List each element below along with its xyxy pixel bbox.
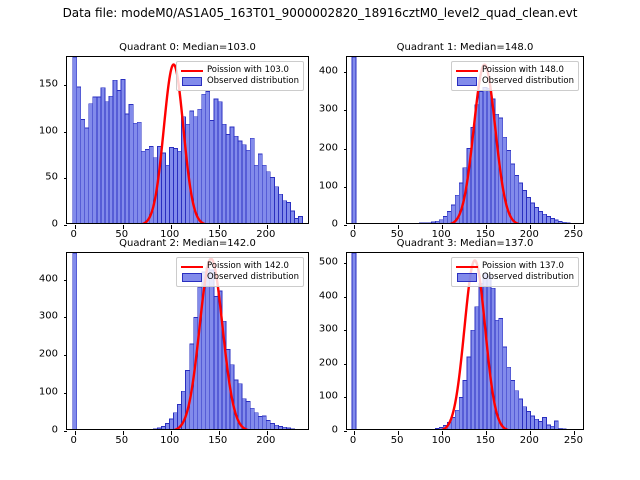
- histogram-bar: [266, 420, 270, 429]
- histogram-bar: [539, 212, 543, 223]
- x-tick-mark: [398, 431, 399, 435]
- histogram-bar: [165, 165, 169, 223]
- subplot-title-quadrant-3: Quadrant 3: Median=137.0: [346, 238, 584, 249]
- x-tick-label: 100: [432, 435, 451, 446]
- histogram-bar: [475, 307, 479, 429]
- y-tick-mark: [344, 187, 348, 188]
- histogram-bar: [105, 102, 109, 223]
- histogram-bar: [242, 399, 246, 429]
- y-tick-label: 500: [290, 257, 338, 268]
- histogram-bar: [109, 96, 113, 223]
- histogram-bar: [214, 99, 218, 223]
- y-tick-label: 100: [10, 125, 58, 136]
- legend-entry-observed: Observed distribution: [456, 272, 574, 283]
- subplot-quadrant-2: Quadrant 2: Median=142.0Poission with 14…: [10, 238, 309, 454]
- y-tick-mark: [64, 178, 68, 179]
- histogram-bar: [499, 318, 503, 429]
- histogram-bar: [202, 94, 206, 223]
- histogram-bar: [352, 57, 356, 223]
- histogram-bar: [523, 191, 527, 223]
- histogram-bar: [447, 212, 451, 223]
- histogram-bar: [527, 198, 531, 223]
- y-tick-label: 400: [10, 273, 58, 284]
- x-tick-mark: [486, 431, 487, 435]
- y-tick-mark: [344, 297, 348, 298]
- x-tick-label: 50: [115, 435, 128, 446]
- histogram-bar: [210, 120, 214, 223]
- legend-quadrant-0[interactable]: Poission with 103.0Observed distribution: [176, 61, 304, 91]
- histogram-bar: [507, 367, 511, 429]
- legend-quadrant-2[interactable]: Poission with 142.0Observed distribution: [176, 257, 304, 287]
- histogram-bar: [435, 221, 439, 223]
- histogram-bar: [455, 410, 459, 429]
- histogram-bar: [439, 220, 443, 223]
- histogram-bar: [558, 222, 562, 223]
- histogram-bar: [282, 427, 286, 429]
- x-tick-mark: [171, 431, 172, 435]
- histogram-bar: [274, 425, 278, 429]
- histogram-bar: [242, 145, 246, 223]
- y-tick-mark: [64, 132, 68, 133]
- histogram-bar: [262, 165, 266, 223]
- histogram-bar: [226, 134, 230, 223]
- legend-entry-observed: Observed distribution: [181, 272, 299, 283]
- histogram-bar: [161, 153, 165, 223]
- plot-area-quadrant-1: Poission with 148.0Observed distribution: [346, 56, 584, 224]
- histogram-bar: [129, 105, 133, 223]
- histogram-bar: [519, 399, 523, 429]
- subplot-title-quadrant-1: Quadrant 1: Median=148.0: [346, 42, 584, 53]
- plot-area-quadrant-0: Poission with 103.0Observed distribution: [66, 56, 309, 224]
- histogram-bar: [278, 194, 282, 223]
- histogram-bar: [178, 151, 182, 223]
- histogram-bar: [254, 413, 258, 429]
- y-tick-label: 0: [10, 425, 58, 436]
- histogram-bar: [174, 413, 178, 429]
- y-tick-label: 200: [290, 357, 338, 368]
- histogram-bar: [278, 426, 282, 429]
- histogram-bar: [443, 217, 447, 223]
- histogram-bar: [270, 423, 274, 429]
- histogram-bar: [218, 102, 222, 223]
- legend-quadrant-3[interactable]: Poission with 137.0Observed distribution: [451, 257, 579, 287]
- histogram-bar: [93, 97, 97, 223]
- x-tick-mark: [442, 225, 443, 229]
- histogram-bar: [467, 357, 471, 429]
- histogram-bar: [535, 419, 539, 429]
- histogram-bar: [511, 164, 515, 223]
- histogram-bar: [527, 412, 531, 429]
- histogram-bar: [519, 183, 523, 223]
- histogram-bar: [145, 149, 149, 223]
- x-tick-mark: [171, 225, 172, 229]
- histogram-bar: [258, 417, 262, 429]
- subplot-quadrant-3: Quadrant 3: Median=137.0Poission with 13…: [290, 238, 584, 454]
- legend-entry-poisson: Poission with 142.0: [181, 261, 299, 272]
- histogram-bar: [165, 423, 169, 429]
- histogram-bar: [262, 416, 266, 429]
- y-tick-mark: [344, 364, 348, 365]
- legend-patch-icon: [181, 273, 203, 282]
- y-tick-label: 100: [290, 391, 338, 402]
- subplot-quadrant-0: Quadrant 0: Median=103.0Poission with 10…: [10, 42, 309, 248]
- x-tick-mark: [354, 225, 355, 229]
- histogram-bar: [459, 397, 463, 429]
- histogram-bar: [169, 148, 173, 223]
- legend-label-observed: Observed distribution: [207, 272, 299, 283]
- histogram-bar: [137, 122, 141, 223]
- x-tick-mark: [123, 225, 124, 229]
- histogram-bar: [174, 148, 178, 223]
- y-tick-label: 0: [10, 219, 58, 230]
- y-tick-mark: [344, 263, 348, 264]
- y-tick-label: 150: [10, 79, 58, 90]
- legend-label-poisson: Poission with 137.0: [482, 261, 564, 272]
- y-tick-mark: [344, 149, 348, 150]
- x-tick-mark: [574, 225, 575, 229]
- histogram-bar: [97, 97, 101, 223]
- y-tick-label: 0: [290, 219, 338, 230]
- figure-canvas: Data file: modeM0/AS1A05_163T01_90000028…: [0, 0, 640, 480]
- plot-area-quadrant-2: Poission with 142.0Observed distribution: [66, 252, 309, 430]
- histogram-bar: [535, 207, 539, 223]
- histogram-bar: [238, 141, 242, 223]
- histogram-bar: [562, 222, 566, 223]
- x-tick-mark: [442, 431, 443, 435]
- x-tick-label: 0: [350, 435, 356, 446]
- x-tick-mark: [398, 225, 399, 229]
- legend-line-icon: [456, 262, 478, 271]
- x-tick-mark: [530, 225, 531, 229]
- histogram-bar: [558, 428, 562, 429]
- histogram-bar: [89, 104, 93, 223]
- x-tick-mark: [574, 431, 575, 435]
- histogram-bar: [282, 201, 286, 223]
- x-tick-label: 100: [160, 435, 179, 446]
- histogram-bar: [531, 203, 535, 223]
- x-tick-label: 200: [520, 435, 539, 446]
- legend-line-icon: [181, 66, 203, 75]
- histogram-bar: [503, 347, 507, 429]
- histogram-bar: [85, 128, 89, 223]
- legend-entry-observed: Observed distribution: [181, 76, 299, 87]
- legend-label-poisson: Poission with 148.0: [482, 65, 564, 76]
- legend-label-poisson: Poission with 103.0: [207, 65, 289, 76]
- histogram-bar: [161, 426, 165, 429]
- histogram-bar: [246, 401, 250, 429]
- histogram-bar: [234, 136, 238, 223]
- y-tick-label: 400: [290, 66, 338, 77]
- histogram-bar: [515, 391, 519, 429]
- histogram-bar: [125, 114, 129, 223]
- histogram-bar: [483, 88, 487, 223]
- histogram-bar: [554, 220, 558, 223]
- histogram-bar: [254, 165, 258, 223]
- x-tick-label: 50: [391, 435, 404, 446]
- y-tick-mark: [344, 110, 348, 111]
- y-tick-label: 300: [290, 324, 338, 335]
- legend-label-observed: Observed distribution: [482, 272, 574, 283]
- histogram-bar: [169, 419, 173, 429]
- histogram-bar: [73, 57, 77, 223]
- legend-patch-icon: [456, 273, 478, 282]
- histogram-bar: [274, 187, 278, 223]
- x-tick-mark: [354, 431, 355, 435]
- legend-entry-poisson: Poission with 137.0: [456, 261, 574, 272]
- y-tick-mark: [64, 431, 68, 432]
- legend-patch-icon: [181, 77, 203, 86]
- histogram-bar: [503, 137, 507, 223]
- histogram-bar: [539, 422, 543, 429]
- histogram-bar: [206, 92, 210, 223]
- histogram-bar: [81, 120, 85, 223]
- y-tick-mark: [344, 330, 348, 331]
- histogram-bar: [463, 381, 467, 429]
- histogram-bar: [554, 421, 558, 429]
- y-tick-mark: [64, 280, 68, 281]
- y-tick-mark: [64, 225, 68, 226]
- y-tick-label: 50: [10, 172, 58, 183]
- plot-area-quadrant-3: Poission with 137.0Observed distribution: [346, 252, 584, 430]
- y-tick-mark: [344, 225, 348, 226]
- histogram-bar: [198, 109, 202, 223]
- legend-line-icon: [181, 262, 203, 271]
- histogram-bar: [511, 381, 515, 429]
- histogram-bar: [117, 91, 121, 223]
- histogram-bar: [542, 418, 546, 429]
- legend-line-icon: [456, 66, 478, 75]
- histogram-bar: [515, 175, 519, 223]
- histogram-bar: [222, 124, 226, 223]
- histogram-bar: [258, 154, 262, 223]
- histogram-bar: [77, 87, 81, 223]
- histogram-bar: [270, 177, 274, 223]
- histogram-bar: [250, 138, 254, 223]
- y-tick-label: 100: [10, 387, 58, 398]
- y-tick-label: 200: [290, 142, 338, 153]
- legend-label-observed: Observed distribution: [207, 76, 299, 87]
- legend-entry-observed: Observed distribution: [456, 76, 574, 87]
- y-tick-label: 300: [290, 104, 338, 115]
- y-tick-label: 400: [290, 290, 338, 301]
- histogram-bar: [210, 270, 214, 429]
- legend-quadrant-1[interactable]: Poission with 148.0Observed distribution: [451, 61, 579, 91]
- legend-label-observed: Observed distribution: [482, 76, 574, 87]
- histogram-bar: [431, 222, 435, 223]
- histogram-bar: [230, 127, 234, 223]
- x-tick-label: 250: [564, 435, 583, 446]
- y-tick-mark: [64, 355, 68, 356]
- histogram-bar: [121, 79, 125, 223]
- y-tick-label: 100: [290, 180, 338, 191]
- histogram-bar: [546, 217, 550, 223]
- x-tick-mark: [219, 431, 220, 435]
- y-tick-mark: [64, 317, 68, 318]
- histogram-bar: [113, 80, 117, 223]
- x-tick-label: 0: [70, 435, 76, 446]
- y-tick-mark: [344, 72, 348, 73]
- subplot-title-quadrant-0: Quadrant 0: Median=103.0: [66, 42, 309, 53]
- x-tick-mark: [267, 431, 268, 435]
- histogram-bar: [266, 172, 270, 223]
- histogram-bar: [542, 214, 546, 223]
- y-tick-label: 0: [290, 425, 338, 436]
- x-tick-mark: [486, 225, 487, 229]
- histogram-bar: [206, 268, 210, 429]
- y-tick-label: 300: [10, 311, 58, 322]
- x-tick-mark: [123, 431, 124, 435]
- histogram-bar: [73, 253, 77, 429]
- legend-patch-icon: [456, 77, 478, 86]
- histogram-bar: [550, 426, 554, 429]
- y-tick-mark: [344, 431, 348, 432]
- subplot-title-quadrant-2: Quadrant 2: Median=142.0: [66, 238, 309, 249]
- histogram-bar: [550, 219, 554, 223]
- y-tick-mark: [64, 85, 68, 86]
- histogram-bar: [352, 253, 356, 429]
- y-tick-label: 200: [10, 349, 58, 360]
- histogram-bar: [214, 297, 218, 429]
- histogram-bar: [487, 88, 491, 223]
- histogram-bar: [546, 425, 550, 429]
- subplot-quadrant-1: Quadrant 1: Median=148.0Poission with 14…: [290, 42, 584, 248]
- x-tick-mark: [267, 225, 268, 229]
- histogram-bar: [141, 151, 145, 223]
- histogram-bar: [531, 416, 535, 429]
- histogram-bar: [157, 428, 161, 429]
- x-tick-mark: [75, 431, 76, 435]
- x-tick-label: 150: [476, 435, 495, 446]
- x-tick-label: 150: [208, 435, 227, 446]
- histogram-bar: [133, 123, 137, 223]
- legend-label-poisson: Poission with 142.0: [207, 261, 289, 272]
- x-tick-mark: [530, 431, 531, 435]
- histogram-bar: [246, 150, 250, 223]
- histogram-bar: [475, 105, 479, 223]
- histogram-bar: [471, 330, 475, 429]
- x-tick-mark: [75, 225, 76, 229]
- y-tick-mark: [64, 393, 68, 394]
- histogram-bar: [101, 88, 105, 223]
- histogram-bar: [523, 407, 527, 429]
- x-tick-mark: [219, 225, 220, 229]
- legend-entry-poisson: Poission with 103.0: [181, 65, 299, 76]
- figure-suptitle: Data file: modeM0/AS1A05_163T01_90000028…: [0, 6, 640, 20]
- y-tick-mark: [344, 397, 348, 398]
- legend-entry-poisson: Poission with 148.0: [456, 65, 574, 76]
- x-tick-label: 200: [256, 435, 275, 446]
- histogram-bar: [479, 91, 483, 223]
- histogram-bar: [250, 408, 254, 429]
